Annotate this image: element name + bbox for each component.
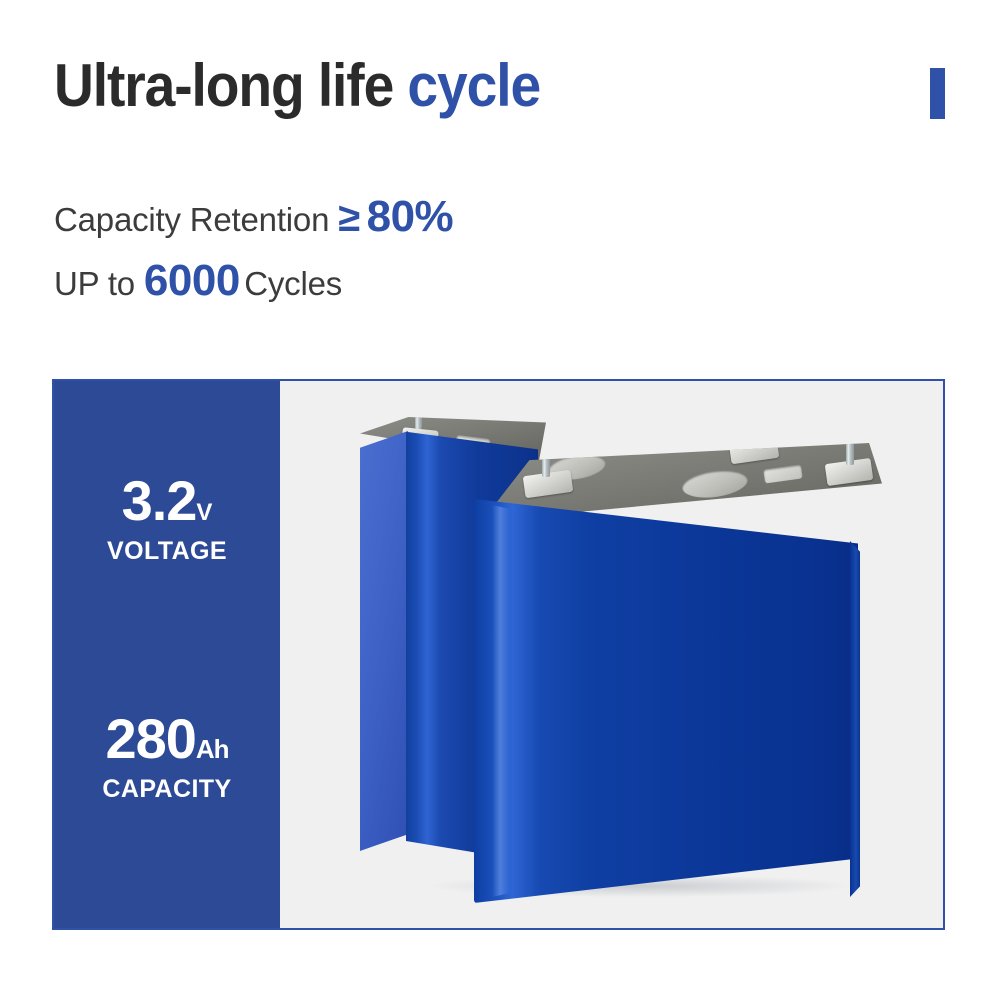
- spec-item-voltage: 3.2V VOLTAGE: [54, 473, 280, 564]
- front-cell-right-edge: [850, 541, 860, 897]
- front-vent-oval-2: [681, 467, 750, 502]
- page-title: Ultra-long life cycle: [54, 56, 540, 116]
- cycle-count-prefix: UP to: [54, 265, 135, 302]
- capacity-value-row: 280Ah: [54, 711, 280, 767]
- front-cell-body: [474, 499, 858, 903]
- voltage-label: VOLTAGE: [54, 539, 280, 564]
- capacity-unit: Ah: [196, 734, 229, 764]
- greater-equal-icon: ≥: [338, 196, 362, 240]
- cycle-count-suffix: Cycles: [244, 265, 342, 302]
- voltage-unit: V: [196, 499, 212, 526]
- capacity-label: CAPACITY: [54, 777, 280, 802]
- voltage-value: 3.2: [122, 469, 197, 532]
- header-section: Ultra-long life cycle Capacity Retention…: [0, 0, 1000, 330]
- rear-terminal-stud-1: [415, 399, 422, 429]
- page-title-highlight: cycle: [407, 52, 540, 119]
- front-terminal-stud-2: [750, 401, 758, 443]
- accent-bar-icon: [930, 68, 945, 119]
- capacity-retention-line: Capacity Retention ≥ 80%: [54, 192, 453, 242]
- cycle-count-value: 6000: [144, 256, 240, 305]
- page-title-dark: Ultra-long life: [54, 52, 393, 119]
- voltage-value-row: 3.2V: [54, 473, 280, 529]
- spec-item-capacity: 280Ah CAPACITY: [54, 711, 280, 802]
- product-image: [280, 381, 943, 928]
- rear-cell-side-face: [360, 431, 408, 851]
- cycle-count-line: UP to 6000 Cycles: [54, 256, 342, 306]
- front-terminal-stud-3: [846, 425, 854, 465]
- front-terminal-base-2: [729, 436, 780, 464]
- capacity-retention-label: Capacity Retention: [54, 201, 329, 238]
- capacity-retention-value: 80%: [367, 192, 454, 241]
- battery-cell-illustration: [280, 381, 943, 928]
- spec-sidebar: 3.2V VOLTAGE 280Ah CAPACITY: [54, 381, 280, 928]
- product-panel: 3.2V VOLTAGE 280Ah CAPACITY: [52, 379, 945, 930]
- front-battery-cell: [452, 443, 888, 909]
- capacity-value: 280: [105, 707, 195, 770]
- front-vent-slot-1: [763, 464, 803, 483]
